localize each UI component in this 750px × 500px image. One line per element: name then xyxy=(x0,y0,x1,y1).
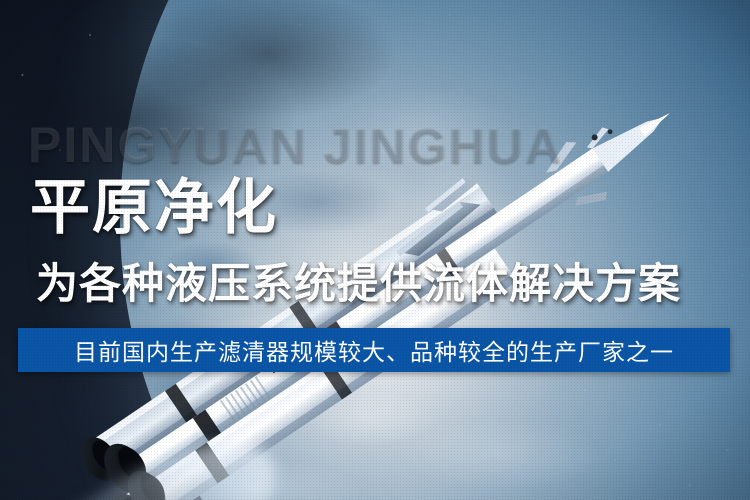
page-subtitle: 为各种液压系统提供流体解决方案 xyxy=(36,258,681,310)
tagline-text: 目前国内生产滤清器规模较大、品种较全的生产厂家之一 xyxy=(18,328,730,372)
hero-banner: PINGYUAN JINGHUA 平原净化 为各种液压系统提供流体解决方案 目前… xyxy=(0,0,750,500)
watermark-pinyin: PINGYUAN JINGHUA xyxy=(28,122,563,168)
tagline-banner: 目前国内生产滤清器规模较大、品种较全的生产厂家之一 xyxy=(18,328,730,372)
page-title: 平原净化 xyxy=(30,172,278,244)
